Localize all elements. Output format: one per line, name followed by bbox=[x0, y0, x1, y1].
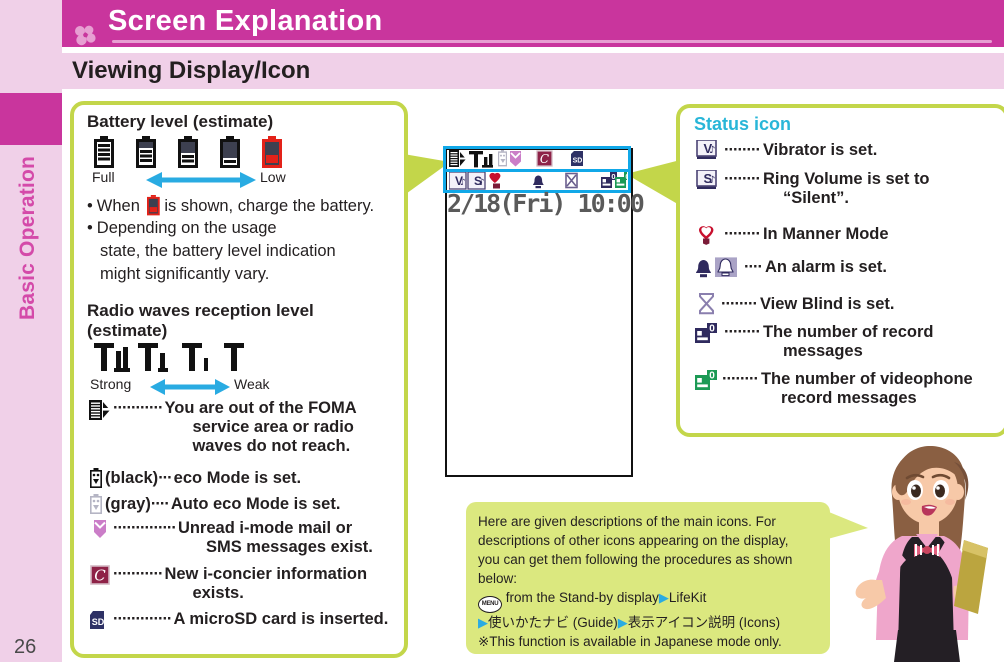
list-item: C ··········· New i-concier information … bbox=[87, 565, 367, 603]
leader-dots: ········ bbox=[722, 370, 758, 389]
sidebar-tab-label: Basic Operation bbox=[0, 138, 59, 338]
signal-scale-right-label: Weak bbox=[234, 376, 270, 392]
leader-dots: ·············· bbox=[113, 519, 176, 538]
battery-bullet-2: •Depending on the usage bbox=[87, 219, 277, 238]
sidebar-tab: Basic Operation 26 bbox=[0, 0, 62, 662]
callout-line-6-a: 使いかたナビ (Guide) bbox=[488, 615, 618, 630]
list-item: 0 ········ The number of videophone reco… bbox=[694, 370, 973, 408]
list-item: (black) ··· eco Mode is set. bbox=[87, 468, 301, 488]
menu-key-icon[interactable]: MENU bbox=[478, 596, 502, 613]
list-item: (gray) ···· Auto eco Mode is set. bbox=[87, 494, 340, 514]
triangle-marker-icon-2: ▶ bbox=[478, 615, 488, 630]
callout-line-5-b: LifeKit bbox=[669, 590, 707, 605]
leader-dots: ··········· bbox=[113, 565, 162, 584]
callout-line-2: descriptions of other icons appearing on… bbox=[478, 531, 822, 550]
battery-bullet-2-line1: Depending on the usage bbox=[97, 219, 277, 237]
leader-dots: ············· bbox=[113, 610, 171, 629]
signal-scale-left-label: Strong bbox=[90, 376, 131, 392]
callout-line-7: ※This function is available in Japanese … bbox=[478, 632, 822, 651]
battery-scale-right-label: Low bbox=[260, 169, 286, 185]
svg-text:SD: SD bbox=[92, 617, 105, 627]
page-number: 26 bbox=[14, 636, 36, 659]
callout-line-6-b: 表示アイコン説明 (Icons) bbox=[628, 615, 780, 630]
list-item: V ♪ ········ Vibrator is set. bbox=[694, 140, 877, 160]
list-item: ·············· Unread i-mode mail or SMS… bbox=[87, 519, 373, 557]
eco-black-paren: (black) bbox=[105, 469, 158, 488]
battery-low-icon bbox=[147, 195, 161, 216]
battery-scale-arrow bbox=[146, 170, 256, 190]
eco-gray-paren: (gray) bbox=[105, 495, 151, 514]
item-description: An alarm is set. bbox=[765, 258, 887, 277]
status-icon-panel-title: Status icon bbox=[694, 114, 791, 135]
leader-dots: ···· bbox=[151, 495, 169, 514]
section-title: Viewing Display/Icon bbox=[72, 57, 310, 85]
svg-text:♪: ♪ bbox=[709, 145, 715, 156]
battery-bullet-1-pre: When bbox=[97, 197, 140, 215]
item-description: Unread i-mode mail or SMS messages exist… bbox=[178, 519, 373, 557]
callout-line-4: below: bbox=[478, 569, 822, 588]
alarm-icon bbox=[694, 256, 744, 278]
list-item: ········ View Blind is set. bbox=[694, 292, 894, 316]
item-description: eco Mode is set. bbox=[174, 469, 301, 488]
item-description: The number of videophone record messages bbox=[761, 370, 973, 408]
leader-dots: ········ bbox=[724, 170, 760, 189]
callout-line-6: ▶使いかたナビ (Guide)▶表示アイコン説明 (Icons) bbox=[478, 613, 822, 632]
battery-bullet-1: •When is shown, charge the battery. bbox=[87, 195, 397, 216]
manner-mode-icon bbox=[694, 223, 720, 245]
leader-dots: ··········· bbox=[113, 399, 162, 418]
battery-bullet-2-line3: might significantly vary. bbox=[100, 265, 269, 284]
battery-scale-left-label: Full bbox=[92, 169, 115, 185]
header-rule bbox=[112, 40, 992, 43]
item-description: A microSD card is inserted. bbox=[173, 610, 388, 629]
status-icon-panel: Status icon V ♪ ········ Vibrator is set… bbox=[676, 104, 1004, 437]
callout-line-5-a: from the Stand-by display bbox=[506, 590, 659, 605]
leader-dots: ········ bbox=[724, 225, 760, 244]
silent-ring-icon: S ♪ bbox=[694, 170, 720, 190]
item-description: You are out of the FOMA service area or … bbox=[164, 399, 356, 456]
callout-line-3: you can get them following the procedure… bbox=[478, 550, 822, 569]
triangle-marker-icon: ▶ bbox=[659, 590, 669, 605]
radio-section-title-line1: Radio waves reception level bbox=[87, 301, 314, 321]
eco-mode-gray-icon bbox=[87, 494, 105, 514]
leader-dots: ········ bbox=[724, 323, 760, 342]
item-description: Auto eco Mode is set. bbox=[171, 495, 341, 514]
battery-section-title: Battery level (estimate) bbox=[87, 112, 273, 132]
leader-dots: ········ bbox=[721, 295, 757, 314]
svg-text:0: 0 bbox=[709, 324, 715, 335]
leader-dots: ··· bbox=[158, 469, 171, 488]
list-item: ········ In Manner Mode bbox=[694, 223, 889, 245]
out-of-area-icon bbox=[87, 399, 113, 421]
svg-text:C: C bbox=[94, 567, 106, 585]
videophone-record-icon: 0 bbox=[694, 370, 720, 392]
item-description: View Blind is set. bbox=[760, 295, 895, 314]
item-description: Ring Volume is set to “Silent”. bbox=[763, 170, 930, 208]
battery-bullet-1-post: is shown, charge the battery. bbox=[164, 197, 374, 215]
svg-text:♪: ♪ bbox=[709, 175, 715, 186]
signal-level-icons bbox=[92, 341, 252, 378]
clover-icon bbox=[72, 24, 100, 48]
item-description: New i-concier information exists. bbox=[164, 565, 367, 603]
svg-text:0: 0 bbox=[709, 371, 715, 382]
triangle-marker-icon-3: ▶ bbox=[618, 615, 628, 630]
item-description: The number of record messages bbox=[763, 323, 934, 361]
battery-and-signal-panel: Battery level (estimate) bbox=[70, 101, 408, 658]
item-description: In Manner Mode bbox=[763, 225, 889, 244]
status-row-divider bbox=[443, 169, 631, 172]
leader-dots: ········ bbox=[724, 141, 760, 160]
bullet-dot: • bbox=[87, 197, 93, 215]
record-message-icon: 0 bbox=[694, 323, 720, 345]
leader-dots: ···· bbox=[744, 258, 762, 277]
standby-clock: 2/18(Fri) 10:00 bbox=[447, 189, 627, 217]
radio-section-title-line2: (estimate) bbox=[87, 321, 167, 341]
callout-line-5: MENU from the Stand-by display▶LifeKit bbox=[478, 588, 822, 613]
list-item: SD ············· A microSD card is inser… bbox=[87, 610, 388, 629]
list-item: ··········· You are out of the FOMA serv… bbox=[87, 399, 357, 456]
info-callout: Here are given descriptions of the main … bbox=[466, 502, 830, 654]
bullet-dot-2: • bbox=[87, 219, 93, 237]
vibrator-icon: V ♪ bbox=[694, 140, 720, 160]
view-blind-icon bbox=[694, 292, 720, 316]
unread-mail-icon bbox=[87, 519, 113, 539]
list-item: 0 ········ The number of record messages bbox=[694, 323, 934, 361]
character-illustration bbox=[836, 440, 1004, 662]
list-item: S ♪ ········ Ring Volume is set to “Sile… bbox=[694, 170, 930, 208]
microsd-icon: SD bbox=[87, 611, 113, 629]
signal-scale-arrow bbox=[150, 377, 230, 397]
list-item: ···· An alarm is set. bbox=[694, 256, 887, 278]
i-concier-icon: C bbox=[87, 565, 113, 585]
eco-mode-black-icon bbox=[87, 468, 105, 488]
callout-line-1: Here are given descriptions of the main … bbox=[478, 512, 822, 531]
page-title: Screen Explanation bbox=[108, 5, 383, 38]
item-description: Vibrator is set. bbox=[763, 141, 877, 160]
battery-bullet-2-line2: state, the battery level indication bbox=[100, 242, 336, 261]
